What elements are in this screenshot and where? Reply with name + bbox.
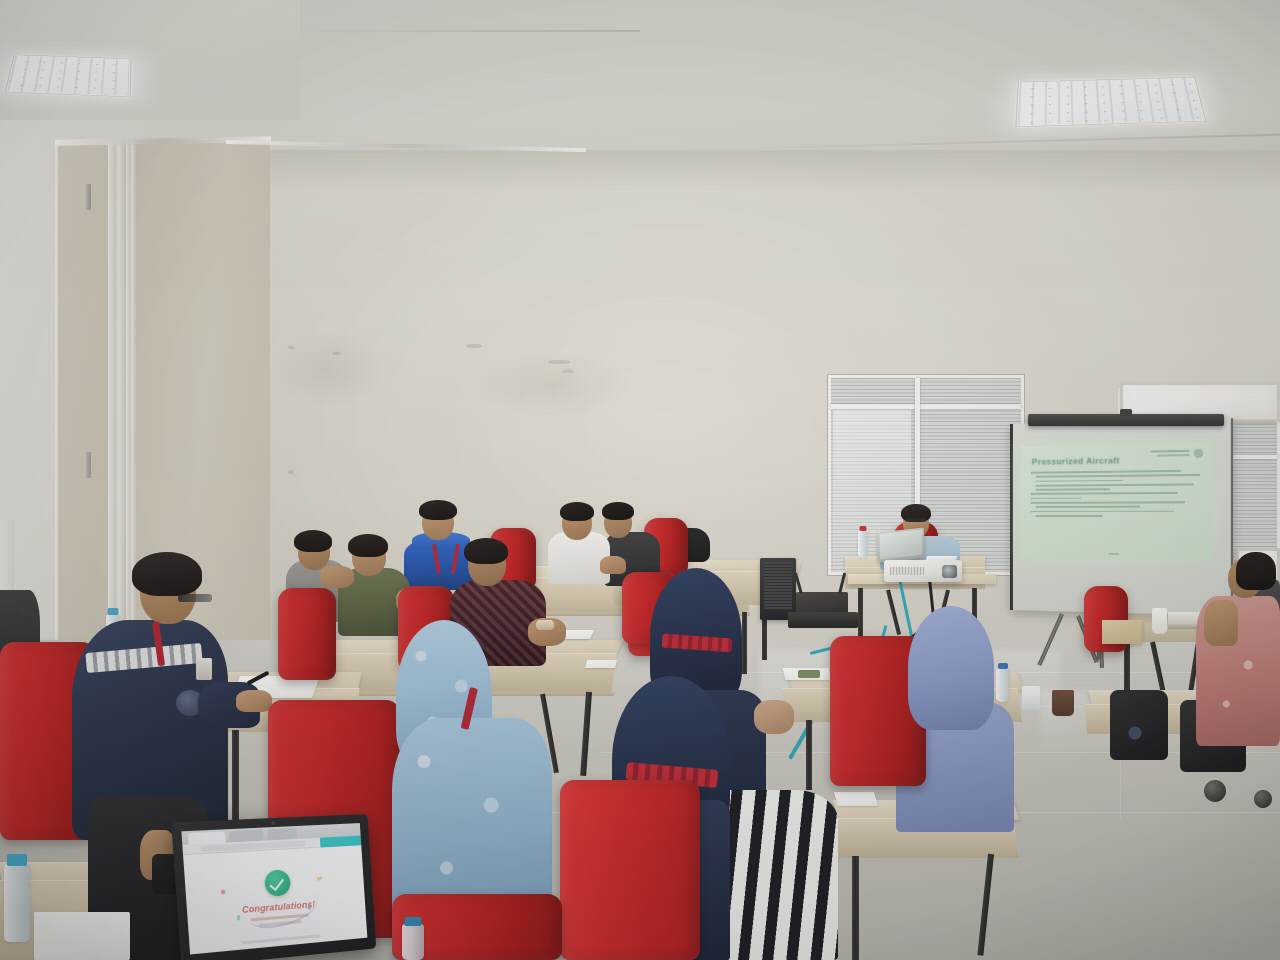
slide-title: Pressurized Aircraft: [1032, 455, 1120, 467]
slide-body-line: [1036, 474, 1201, 478]
slide-body-line: [1031, 510, 1174, 512]
page-body: Congratulations!: [183, 845, 367, 954]
wall-scuff: [288, 470, 293, 474]
participant-hijab-periwinkle: [908, 606, 994, 730]
slide-body-line: [1036, 506, 1141, 508]
wall-scuff: [466, 344, 482, 348]
desk-leg: [232, 730, 239, 830]
slide-body-line: [1036, 483, 1194, 486]
desk-leg: [806, 720, 812, 790]
participant-hair: [1236, 552, 1276, 590]
wall-mark: [268, 330, 388, 410]
confetti: [221, 889, 226, 894]
partition-hinge: [86, 184, 91, 210]
slide-page-number: [1109, 553, 1119, 555]
water-bottle: [858, 530, 867, 558]
officer-glasses-icon: [178, 594, 212, 602]
pa-speaker: [760, 558, 796, 620]
laptop-lid: Congratulations!: [171, 814, 376, 960]
wall-scuff: [548, 360, 570, 364]
participant-hair: [602, 502, 634, 520]
desk-item: [798, 670, 820, 678]
ceiling-light-panel: [6, 55, 131, 96]
drinking-glass: [1022, 686, 1040, 710]
wall-scuff: [288, 346, 294, 349]
water-bottle: [4, 864, 30, 942]
slide-body-line: [1031, 497, 1081, 499]
slide-logo: [1148, 449, 1204, 464]
wall-scuff: [562, 370, 574, 373]
participant-hand: [320, 566, 354, 588]
desk-leg: [742, 612, 747, 674]
participant-hair: [419, 500, 457, 520]
slide-body-line: [1036, 515, 1103, 517]
cardboard-box: [1102, 620, 1142, 644]
partition-rail: [126, 140, 136, 702]
officer-hand: [236, 690, 272, 712]
slide-body-line: [1031, 492, 1178, 495]
chair-caster: [1254, 790, 1272, 808]
participant-hair: [294, 530, 332, 552]
chair[interactable]: [560, 780, 700, 960]
participant-hands: [754, 700, 794, 734]
water-bottle: [996, 668, 1009, 702]
coffee-cup: [1052, 690, 1074, 716]
projected-slide: Pressurized Aircraft: [1021, 442, 1212, 560]
classroom-photo: Pressurized Aircraft: [0, 0, 1280, 960]
confetti: [237, 915, 241, 920]
officer-hair: [132, 552, 202, 596]
partition-hinge: [86, 452, 91, 478]
participant-hair: [348, 534, 388, 557]
confetti: [317, 876, 322, 881]
back-wall-upper-band: [230, 150, 1280, 190]
desk-leg: [858, 588, 863, 636]
chair[interactable]: [278, 588, 336, 680]
chair-caster: [1204, 780, 1226, 802]
projection-screen-case[interactable]: [1028, 414, 1224, 426]
participant-arm: [1204, 600, 1238, 646]
slide-body-text: [1031, 470, 1203, 520]
participant-hair: [560, 502, 594, 521]
desk-leg: [852, 856, 859, 960]
paper-note: [585, 660, 617, 668]
av-equipment: [788, 612, 858, 628]
laptop-display: Congratulations!: [181, 823, 367, 954]
paper-note: [834, 792, 878, 806]
wristwatch: [536, 620, 554, 630]
paper-cup: [1152, 608, 1167, 634]
slide-body-line: [1036, 488, 1110, 490]
participant-hands: [600, 556, 626, 574]
body-line: [248, 950, 316, 954]
laptop-screen: [880, 530, 922, 559]
screen-pull-knob[interactable]: [1120, 409, 1132, 416]
body-line: [251, 943, 312, 952]
slide-body-line: [1031, 470, 1181, 474]
instructor-glasses-icon: [905, 518, 926, 522]
water-bottle: [402, 924, 424, 960]
projection-screen: Pressurized Aircraft: [1010, 418, 1233, 616]
wall-scuff: [332, 352, 341, 355]
participant-laptop[interactable]: Congratulations!: [178, 818, 386, 960]
webcam-icon: [271, 821, 275, 825]
slide-body-line: [1036, 479, 1123, 482]
ceiling-light-panel: [1016, 78, 1204, 127]
slide-body-line: [1031, 501, 1185, 503]
partition-edge: [55, 140, 58, 702]
projector[interactable]: [884, 560, 962, 582]
backpack-logo: [1124, 722, 1146, 744]
id-badge: [196, 658, 212, 680]
participant-hair: [464, 538, 508, 564]
paper-note: [34, 912, 130, 960]
